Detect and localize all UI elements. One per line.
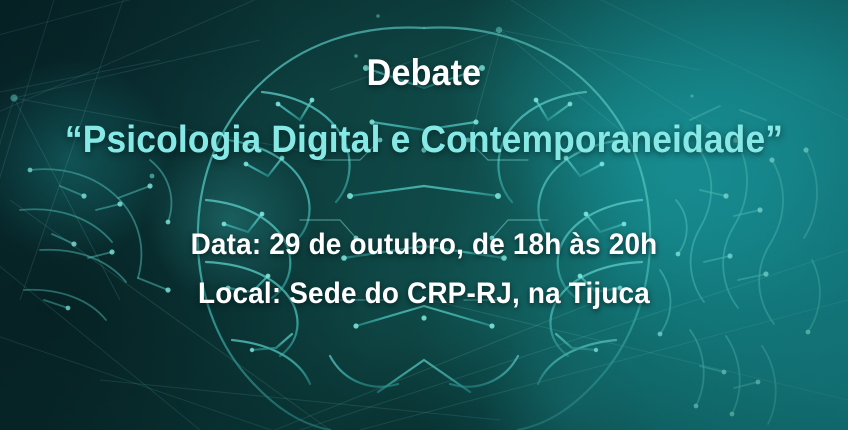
banner-subtitle: “Psicologia Digital e Contemporaneidade” [30,119,819,162]
banner-title: Debate [34,52,814,94]
banner-text-block: Debate “Psicologia Digital e Contemporan… [0,0,848,430]
event-date-line: Data: 29 de outubro, de 18h às 20h [30,228,819,262]
event-banner: Debate “Psicologia Digital e Contemporan… [0,0,848,430]
event-location-line: Local: Sede do CRP-RJ, na Tijuca [30,277,819,311]
